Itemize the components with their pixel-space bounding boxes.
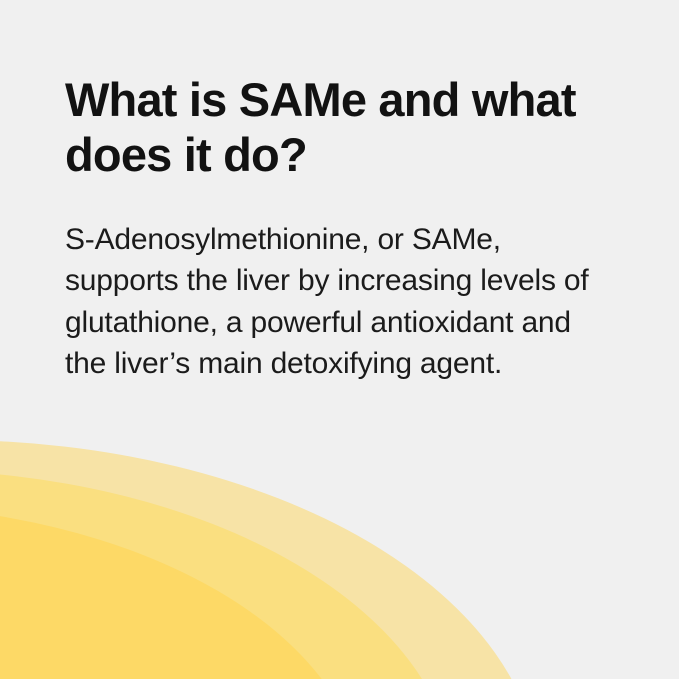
card-body-text: S-Adenosylmethionine, or SAMe, supports … — [65, 183, 605, 385]
arc-band-middle — [0, 470, 456, 679]
info-card: What is SAMe and what does it do? S-Aden… — [0, 0, 679, 679]
card-content: What is SAMe and what does it do? S-Aden… — [65, 72, 625, 384]
arc-band-inner — [0, 505, 366, 679]
card-heading: What is SAMe and what does it do? — [65, 72, 585, 183]
arc-band-outer — [0, 440, 540, 679]
